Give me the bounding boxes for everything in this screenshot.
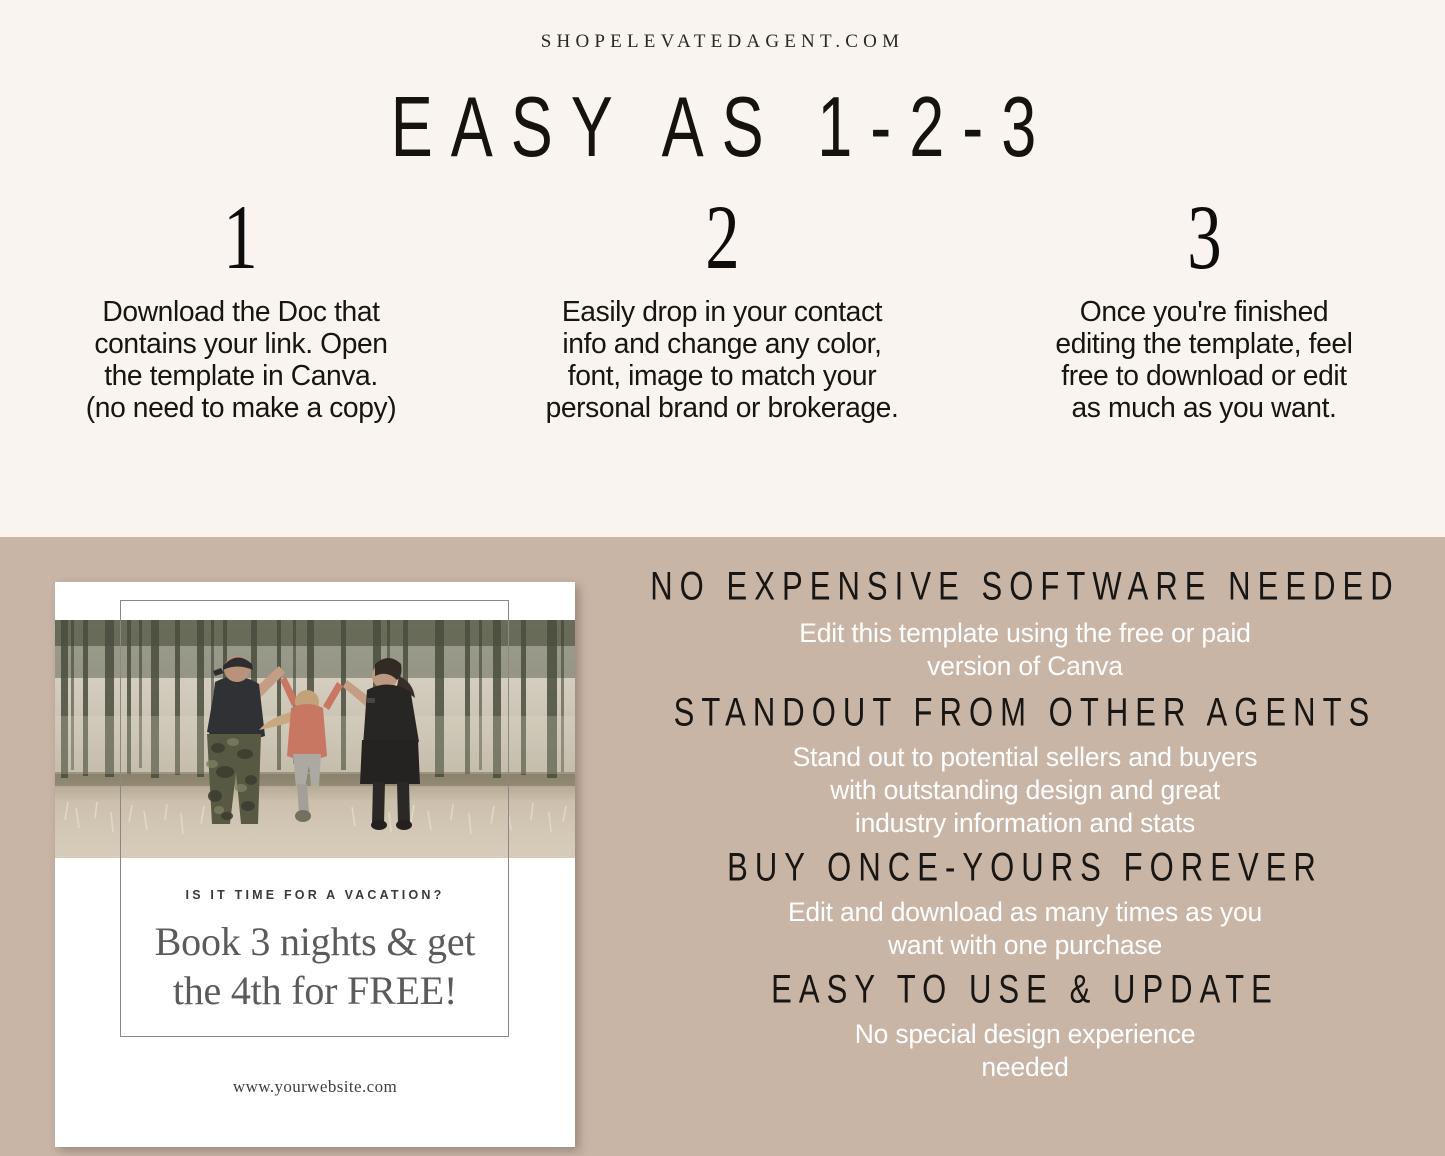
step-number-2: 2 [705,191,739,285]
feature-item-3: BUY ONCE-YOURS FOREVER Edit and download… [625,850,1425,962]
step-text-2: Easily drop in your contact info and cha… [490,296,955,424]
feature-heading-4: EASY TO USE & UPDATE [649,968,1401,1009]
step-number-3: 3 [1187,191,1221,285]
step-text-3: Once you're finished editing the templat… [1006,296,1402,424]
feature-body-2: Stand out to potential sellers and buyer… [625,741,1425,840]
card-headline: Book 3 nights & get the 4th for FREE! [110,917,520,1015]
bottom-section: IS IT TIME FOR A VACATION? Book 3 nights… [0,537,1445,1156]
step-item-1: 1 Download the Doc that contains your li… [0,196,482,424]
feature-item-4: EASY TO USE & UPDATE No special design e… [625,972,1425,1084]
feature-heading-3: BUY ONCE-YOURS FOREVER [649,846,1401,887]
feature-body-3: Edit and download as many times as you w… [625,896,1425,962]
step-text-1: Download the Doc that contains your link… [28,296,454,424]
feature-item-1: NO EXPENSIVE SOFTWARE NEEDED Edit this t… [625,569,1425,683]
steps-row: 1 Download the Doc that contains your li… [0,196,1445,424]
family-in-forest-photo [55,620,575,858]
page-title: EASY AS 1-2-3 [72,78,1373,176]
top-section: SHOPELEVATEDAGENT.COM EASY AS 1-2-3 1 Do… [0,0,1445,537]
site-url: SHOPELEVATEDAGENT.COM [0,31,1445,53]
feature-body-4: No special design experience needed [625,1018,1425,1084]
feature-heading-2: STANDOUT FROM OTHER AGENTS [649,691,1401,732]
card-eyebrow-text: IS IT TIME FOR A VACATION? [55,888,575,902]
feature-item-2: STANDOUT FROM OTHER AGENTS Stand out to … [625,695,1425,840]
step-number-1: 1 [224,191,258,285]
feature-heading-1: NO EXPENSIVE SOFTWARE NEEDED [649,565,1401,606]
step-item-2: 2 Easily drop in your contact info and c… [482,196,964,424]
feature-body-1: Edit this template using the free or pai… [625,617,1425,683]
promo-page: SHOPELEVATEDAGENT.COM EASY AS 1-2-3 1 Do… [0,0,1445,1156]
features-list: NO EXPENSIVE SOFTWARE NEEDED Edit this t… [625,569,1425,1093]
card-website-url: www.yourwebsite.com [55,1077,575,1097]
step-item-3: 3 Once you're finished editing the templ… [963,196,1445,424]
template-mockup-card: IS IT TIME FOR A VACATION? Book 3 nights… [55,582,575,1147]
